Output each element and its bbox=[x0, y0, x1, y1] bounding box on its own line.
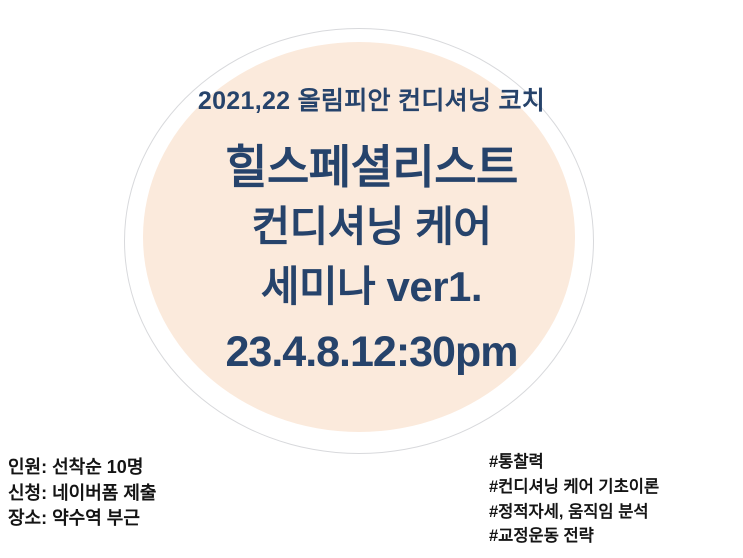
hero-title-line-1: 힐스페셜리스트 bbox=[0, 143, 743, 191]
hero-eyebrow: 2021,22 올림피안 컨디셔닝 코치 bbox=[0, 88, 743, 116]
poster-canvas: 2021,22 올림피안 컨디셔닝 코치 힐스페셜리스트 컨디셔닝 케어 세미나… bbox=[0, 0, 743, 558]
hero-title-line-2: 컨디셔닝 케어 bbox=[0, 205, 743, 249]
hashtag-item-1: #통찰력 bbox=[489, 450, 659, 475]
hashtag-item-2: #컨디셔닝 케어 기초이론 bbox=[489, 475, 659, 500]
detail-signup: 신청: 네이버폼 제출 bbox=[8, 481, 156, 507]
event-hashtags-right: #통찰력 #컨디셔닝 케어 기초이론 #정적자세, 움직임 분석 #교정운동 전… bbox=[489, 450, 659, 549]
detail-location: 장소: 약수역 부근 bbox=[8, 506, 156, 532]
hashtag-item-4: #교정운동 전략 bbox=[489, 524, 659, 549]
hero-title-line-3: 세미나 ver1. bbox=[0, 265, 743, 309]
hashtag-item-3: #정적자세, 움직임 분석 bbox=[489, 500, 659, 525]
hero-datetime: 23.4.8.12:30pm bbox=[0, 330, 743, 375]
detail-capacity: 인원: 선착순 10명 bbox=[8, 455, 156, 481]
event-details-left: 인원: 선착순 10명 신청: 네이버폼 제출 장소: 약수역 부근 bbox=[8, 455, 156, 532]
